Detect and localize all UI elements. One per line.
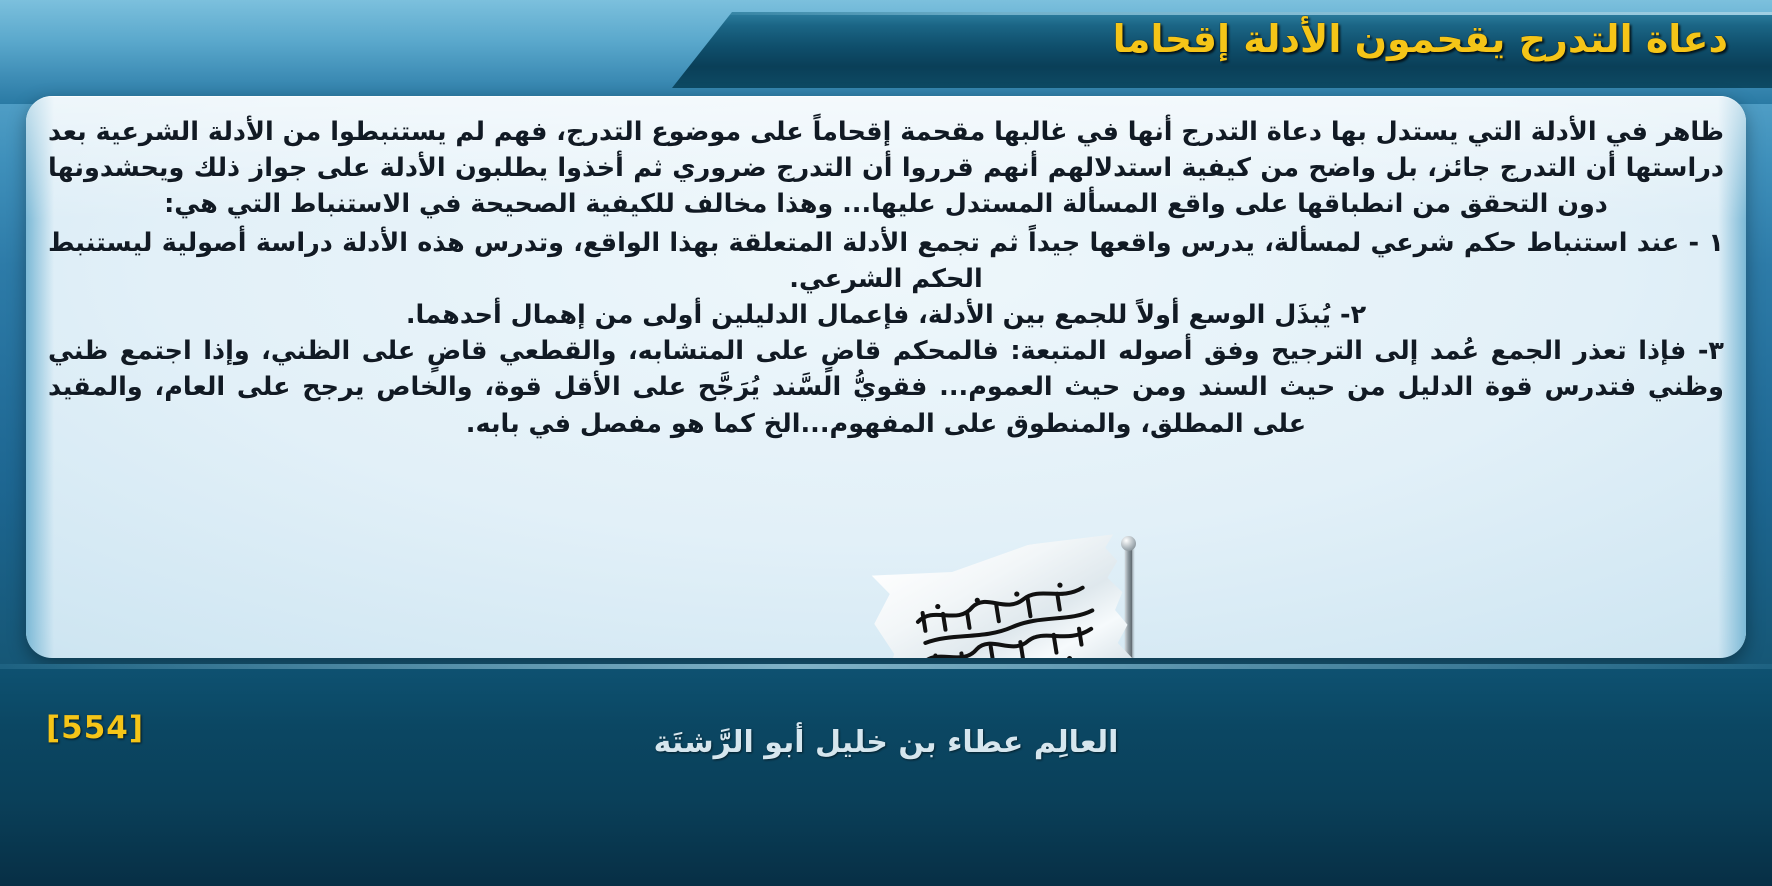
header-band: دعاة التدرج يقحمون الأدلة إقحاما <box>0 0 1772 104</box>
article-text: ظاهر في الأدلة التي يستدل بها دعاة التدر… <box>48 114 1724 442</box>
footer-highlight <box>0 664 1772 669</box>
flag-cloth <box>866 531 1136 658</box>
poster-canvas: دعاة التدرج يقحمون الأدلة إقحاما ظاهر في… <box>0 0 1772 886</box>
author-signature: العالِم عطاء بن خليل أبو الرَّشتَة <box>0 725 1772 760</box>
flag-pole <box>1125 544 1132 658</box>
list-item-3: ٣- فإذا تعذر الجمع عُمد إلى الترجيح وفق … <box>48 333 1724 442</box>
page-title: دعاة التدرج يقحمون الأدلة إقحاما <box>1113 20 1728 58</box>
shahada-flag-icon <box>836 544 1136 658</box>
flag-pole-finial <box>1121 536 1136 551</box>
footer-band <box>0 664 1772 886</box>
paragraph-intro: ظاهر في الأدلة التي يستدل بها دعاة التدر… <box>48 114 1724 223</box>
content-panel: ظاهر في الأدلة التي يستدل بها دعاة التدر… <box>26 96 1746 658</box>
flag-calligraphy <box>905 564 1108 658</box>
list-item-2: ٢- يُبذَل الوسع أولاً للجمع بين الأدلة، … <box>48 297 1724 333</box>
list-item-1: ١ - عند استنباط حكم شرعي لمسألة، يدرس وا… <box>48 225 1724 297</box>
